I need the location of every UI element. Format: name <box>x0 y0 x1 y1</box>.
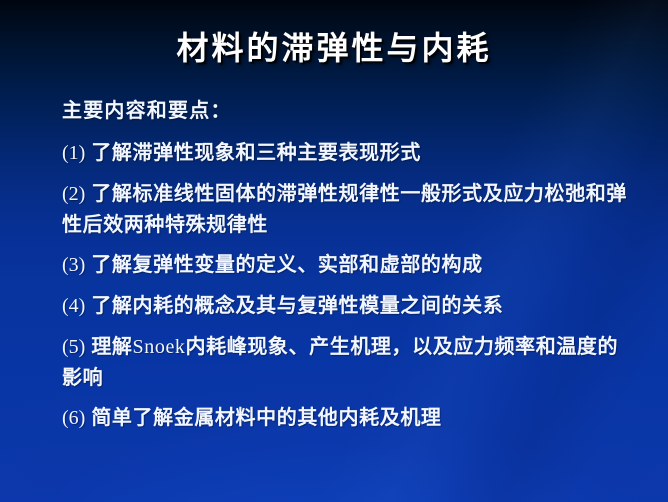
list-item-marker: (5) <box>62 336 85 358</box>
list-item-text: 了解复弹性变量的定义、实部和虚部的构成 <box>91 252 482 276</box>
list-item-latin-term: Snoek <box>133 336 186 358</box>
list-item-marker: (6) <box>62 407 85 429</box>
list-item-text: 简单了解金属材料中的其他内耗及机理 <box>91 405 441 429</box>
list-item: (5)理解Snoek内耗峰现象、产生机理，以及应力频率和温度的影响 <box>62 331 638 392</box>
list-item-text: 了解标准线性固体的滞弹性规律性一般形式及应力松弛和弹性后效两种特殊规律性 <box>62 181 627 236</box>
list-item: (6)简单了解金属材料中的其他内耗及机理 <box>62 402 638 433</box>
slide-title: 材料的滞弹性与内耗 <box>0 23 668 69</box>
list-item-marker: (1) <box>62 142 85 164</box>
list-item-marker: (2) <box>62 183 85 205</box>
list-item-marker: (4) <box>62 295 85 317</box>
list-item-text-prefix: 理解 <box>91 334 132 358</box>
presentation-slide: 材料的滞弹性与内耗 主要内容和要点： (1)了解滞弹性现象和三种主要表现形式 (… <box>0 0 668 502</box>
list-item-text: 了解滞弹性现象和三种主要表现形式 <box>91 140 421 164</box>
list-item-text: 了解内耗的概念及其与复弹性模量之间的关系 <box>91 293 503 317</box>
list-item: (4)了解内耗的概念及其与复弹性模量之间的关系 <box>62 290 638 321</box>
list-item: (1)了解滞弹性现象和三种主要表现形式 <box>62 137 638 168</box>
list-item-marker: (3) <box>62 254 85 276</box>
body-heading: 主要内容和要点： <box>62 95 638 125</box>
slide-body: 主要内容和要点： (1)了解滞弹性现象和三种主要表现形式 (2)了解标准线性固体… <box>62 95 638 443</box>
list-item: (2)了解标准线性固体的滞弹性规律性一般形式及应力松弛和弹性后效两种特殊规律性 <box>62 178 638 239</box>
list-item: (3)了解复弹性变量的定义、实部和虚部的构成 <box>62 249 638 280</box>
